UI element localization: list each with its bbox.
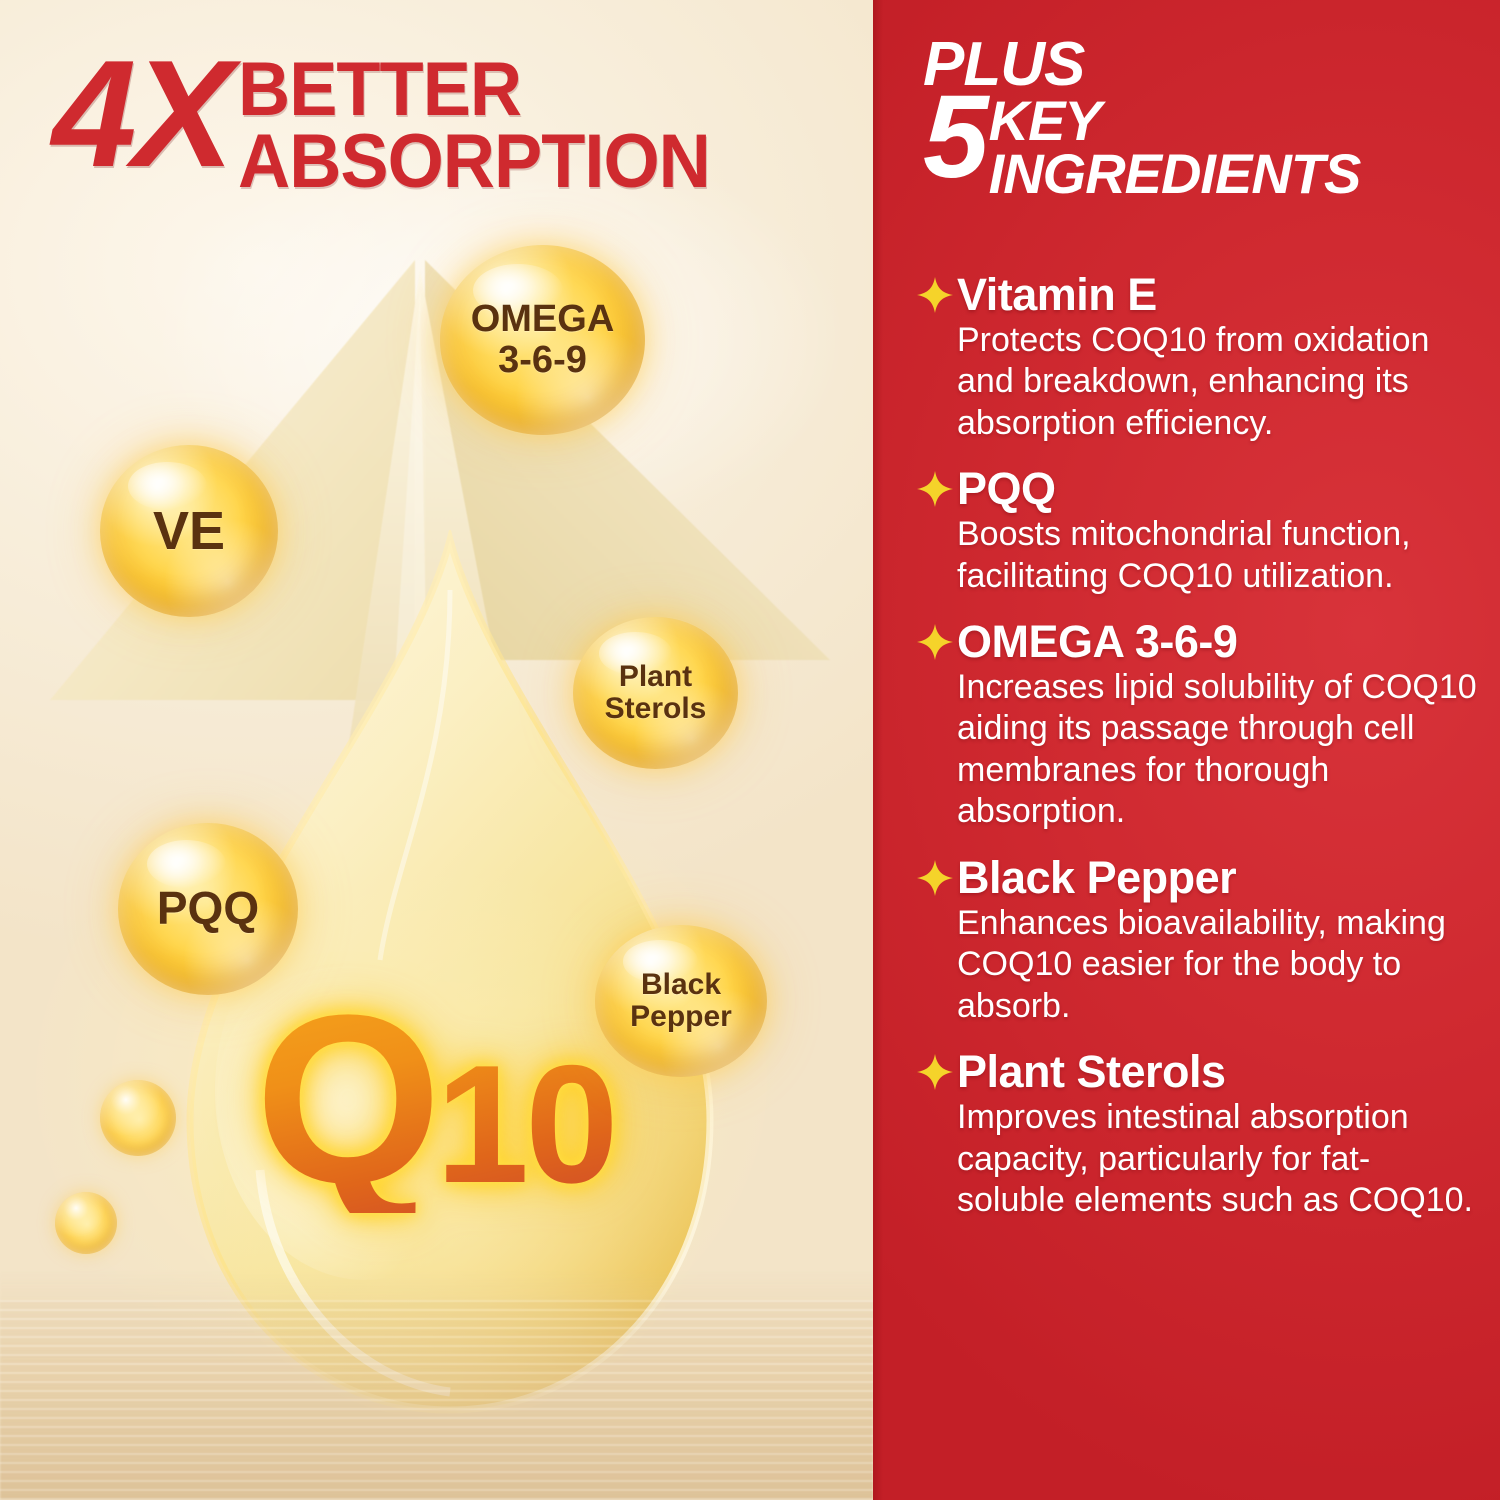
right-panel-header: PLUS 5 KEY INGREDIENTS	[923, 36, 1360, 200]
headline: 4X BETTER ABSORPTION	[52, 48, 862, 198]
ingredient-description: Enhances bioavailability, making COQ10 e…	[957, 903, 1477, 1027]
surface-floor-texture	[0, 1300, 873, 1500]
ingredient-item-vitamin-e: Vitamin E Protects COQ10 from oxidation …	[919, 272, 1479, 444]
ingredient-title: Vitamin E	[957, 272, 1157, 318]
sparkle-star-icon	[915, 622, 955, 662]
sparkle-star-icon	[915, 469, 955, 509]
ingredient-item-pqq: PQQ Boosts mitochondrial function, facil…	[919, 466, 1479, 597]
bubble-plant-sterols: Plant Sterols	[573, 617, 738, 769]
q10-letter: Q	[255, 965, 436, 1233]
mini-bubble-large	[100, 1080, 176, 1156]
ingredient-description: Improves intestinal absorption capacity,…	[957, 1097, 1477, 1221]
sparkle-star-icon	[915, 275, 955, 315]
ingredient-title: OMEGA 3-6-9	[957, 619, 1237, 665]
headline-multiplier: 4X	[52, 48, 230, 182]
ingredient-item-omega-3-6-9: OMEGA 3-6-9 Increases lipid solubility o…	[919, 619, 1479, 833]
bubble-pqq-label: PQQ	[157, 882, 259, 934]
sparkle-star-icon	[915, 858, 955, 898]
bubble-omega-line2: 3-6-9	[498, 339, 587, 381]
bubble-omega: OMEGA 3-6-9	[440, 245, 645, 435]
header-count: 5	[923, 89, 985, 186]
product-infographic: Q10 OMEGA 3-6-9 VE Plant Sterols PQQ Bla…	[0, 0, 1500, 1500]
ingredient-description: Increases lipid solubility of COQ10 aidi…	[957, 667, 1477, 833]
bubble-omega-line1: OMEGA	[471, 298, 615, 340]
q10-logo: Q10	[255, 985, 615, 1213]
bubble-plant-line1: Plant	[619, 660, 692, 693]
header-plus: PLUS	[923, 36, 1360, 93]
right-ingredients-panel: PLUS 5 KEY INGREDIENTS Vitamin E Protect…	[873, 0, 1500, 1500]
bubble-pepper-line2: Pepper	[630, 1000, 732, 1033]
ingredient-description: Boosts mitochondrial function, facilitat…	[957, 514, 1477, 597]
ingredient-item-plant-sterols: Plant Sterols Improves intestinal absorp…	[919, 1049, 1479, 1221]
left-visual-panel: Q10 OMEGA 3-6-9 VE Plant Sterols PQQ Bla…	[0, 0, 873, 1500]
bubble-black-pepper: Black Pepper	[595, 925, 767, 1077]
panel-edge-shadow	[873, 0, 883, 1500]
bubble-plant-line2: Sterols	[605, 692, 707, 725]
bubble-ve: VE	[100, 445, 278, 617]
ingredient-description: Protects COQ10 from oxidation and breakd…	[957, 320, 1477, 444]
headline-line-2: ABSORPTION	[238, 126, 710, 198]
ingredient-title: Black Pepper	[957, 855, 1236, 901]
ingredient-title: PQQ	[957, 466, 1056, 512]
bubble-pqq: PQQ	[118, 823, 298, 995]
header-ingredients: INGREDIENTS	[989, 148, 1361, 201]
ingredients-list: Vitamin E Protects COQ10 from oxidation …	[919, 272, 1479, 1243]
mini-bubble-small	[55, 1192, 117, 1254]
bubble-ve-label: VE	[153, 501, 225, 561]
headline-line-1: BETTER	[238, 54, 710, 126]
ingredient-item-black-pepper: Black Pepper Enhances bioavailability, m…	[919, 855, 1479, 1027]
header-key: KEY	[989, 95, 1361, 148]
ingredient-title: Plant Sterols	[957, 1049, 1226, 1095]
q10-number: 10	[436, 1030, 615, 1218]
sparkle-star-icon	[915, 1052, 955, 1092]
bubble-pepper-line1: Black	[641, 968, 721, 1001]
